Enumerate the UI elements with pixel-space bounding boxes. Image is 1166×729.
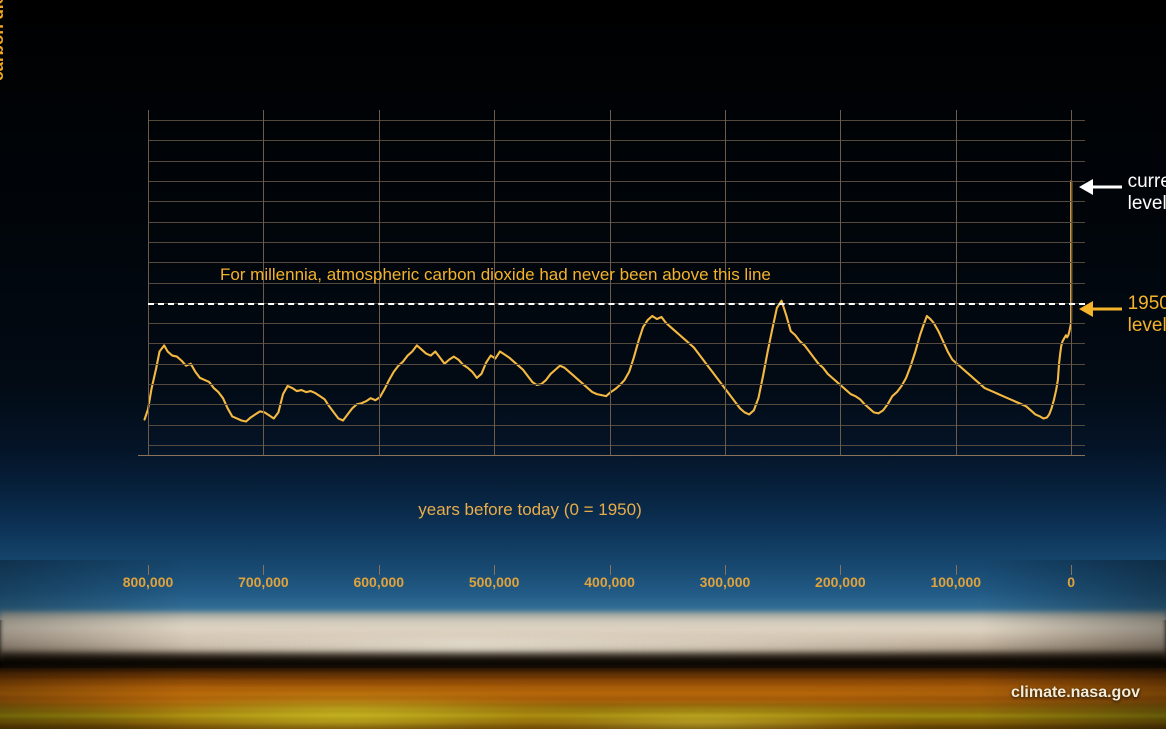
gridline-horizontal bbox=[148, 404, 1085, 405]
gridline-horizontal bbox=[148, 140, 1085, 141]
level-1950-line1: 1950 bbox=[1128, 293, 1166, 314]
millennia-annotation: For millennia, atmospheric carbon dioxid… bbox=[220, 265, 771, 285]
gridline-horizontal bbox=[148, 201, 1085, 202]
gridline-horizontal bbox=[148, 384, 1085, 385]
co2-line-path bbox=[145, 181, 1072, 421]
threshold-line-300ppm bbox=[148, 303, 1085, 305]
gridline-vertical bbox=[1071, 110, 1072, 455]
x-axis-label: years before today (0 = 1950) bbox=[0, 500, 1060, 520]
current-level-text: currentlevel bbox=[1128, 171, 1166, 215]
gridline-horizontal bbox=[148, 120, 1085, 121]
current-level-line1: current bbox=[1128, 171, 1166, 192]
x-axis-tick-label: 0 bbox=[1001, 574, 1141, 590]
current-level-callout: currentlevel bbox=[1079, 171, 1166, 215]
gridline-vertical bbox=[148, 110, 149, 455]
gridline-horizontal bbox=[148, 323, 1085, 324]
level-1950-text: 1950level bbox=[1128, 293, 1166, 337]
arrow-left-white-icon bbox=[1079, 177, 1123, 197]
level-1950-line2: level bbox=[1128, 315, 1166, 336]
watermark: climate.nasa.gov bbox=[1011, 684, 1140, 702]
arrow-left-orange-icon bbox=[1079, 299, 1123, 319]
gridline-horizontal bbox=[148, 364, 1085, 365]
gridline-horizontal bbox=[148, 262, 1085, 263]
x-axis-line bbox=[138, 455, 1085, 456]
gridline-horizontal bbox=[148, 222, 1085, 223]
chart-panel: carbon dioxide level (parts per million)… bbox=[0, 0, 1166, 560]
y-axis-label: carbon dioxide level (parts per million) bbox=[0, 0, 8, 105]
gridline-horizontal bbox=[148, 445, 1085, 446]
gridline-vertical bbox=[956, 110, 957, 455]
gridline-horizontal bbox=[148, 343, 1085, 344]
gridline-vertical bbox=[840, 110, 841, 455]
gridline-horizontal bbox=[148, 161, 1085, 162]
gridline-horizontal bbox=[148, 242, 1085, 243]
gridline-horizontal bbox=[148, 425, 1085, 426]
gridline-horizontal bbox=[148, 181, 1085, 182]
level-1950-callout: 1950level bbox=[1079, 293, 1166, 337]
current-level-line2: level bbox=[1128, 193, 1166, 214]
nasa-co2-chart-image: carbon dioxide level (parts per million)… bbox=[0, 0, 1166, 729]
